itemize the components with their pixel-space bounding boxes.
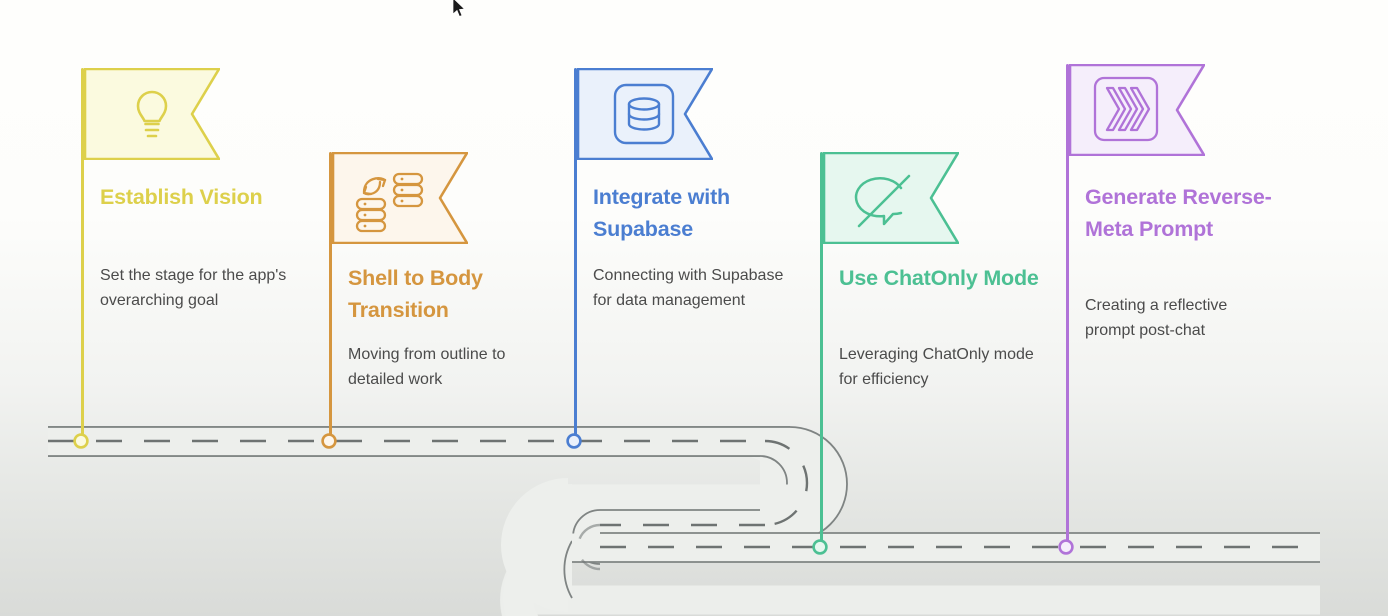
mouse-pointer bbox=[452, 0, 466, 18]
milestone-description: Moving from outline to detailed work bbox=[348, 343, 544, 393]
flag-banner bbox=[84, 68, 220, 160]
milestone-title: Establish Vision bbox=[100, 181, 300, 213]
flag-banner bbox=[1069, 64, 1205, 156]
milestone-description: Set the stage for the app's overarching … bbox=[100, 264, 296, 314]
roadmap-canvas: Establish Vision Set the stage for the a… bbox=[0, 0, 1388, 616]
milestone-title: Use ChatOnly Mode bbox=[839, 262, 1039, 294]
road-shape bbox=[48, 426, 1320, 616]
milestone-title: Integrate with Supabase bbox=[593, 181, 793, 246]
flag-banner bbox=[332, 152, 468, 244]
flag-banner bbox=[577, 68, 713, 160]
flag-banner bbox=[823, 152, 959, 244]
milestone-description: Connecting with Supabase for data manage… bbox=[593, 264, 789, 314]
milestone-title: Shell to Body Transition bbox=[348, 262, 548, 327]
milestone-title: Generate Reverse-Meta Prompt bbox=[1085, 181, 1285, 246]
milestone-description: Creating a reflective prompt post-chat bbox=[1085, 294, 1281, 344]
milestone-description: Leveraging ChatOnly mode for efficiency bbox=[839, 343, 1035, 393]
